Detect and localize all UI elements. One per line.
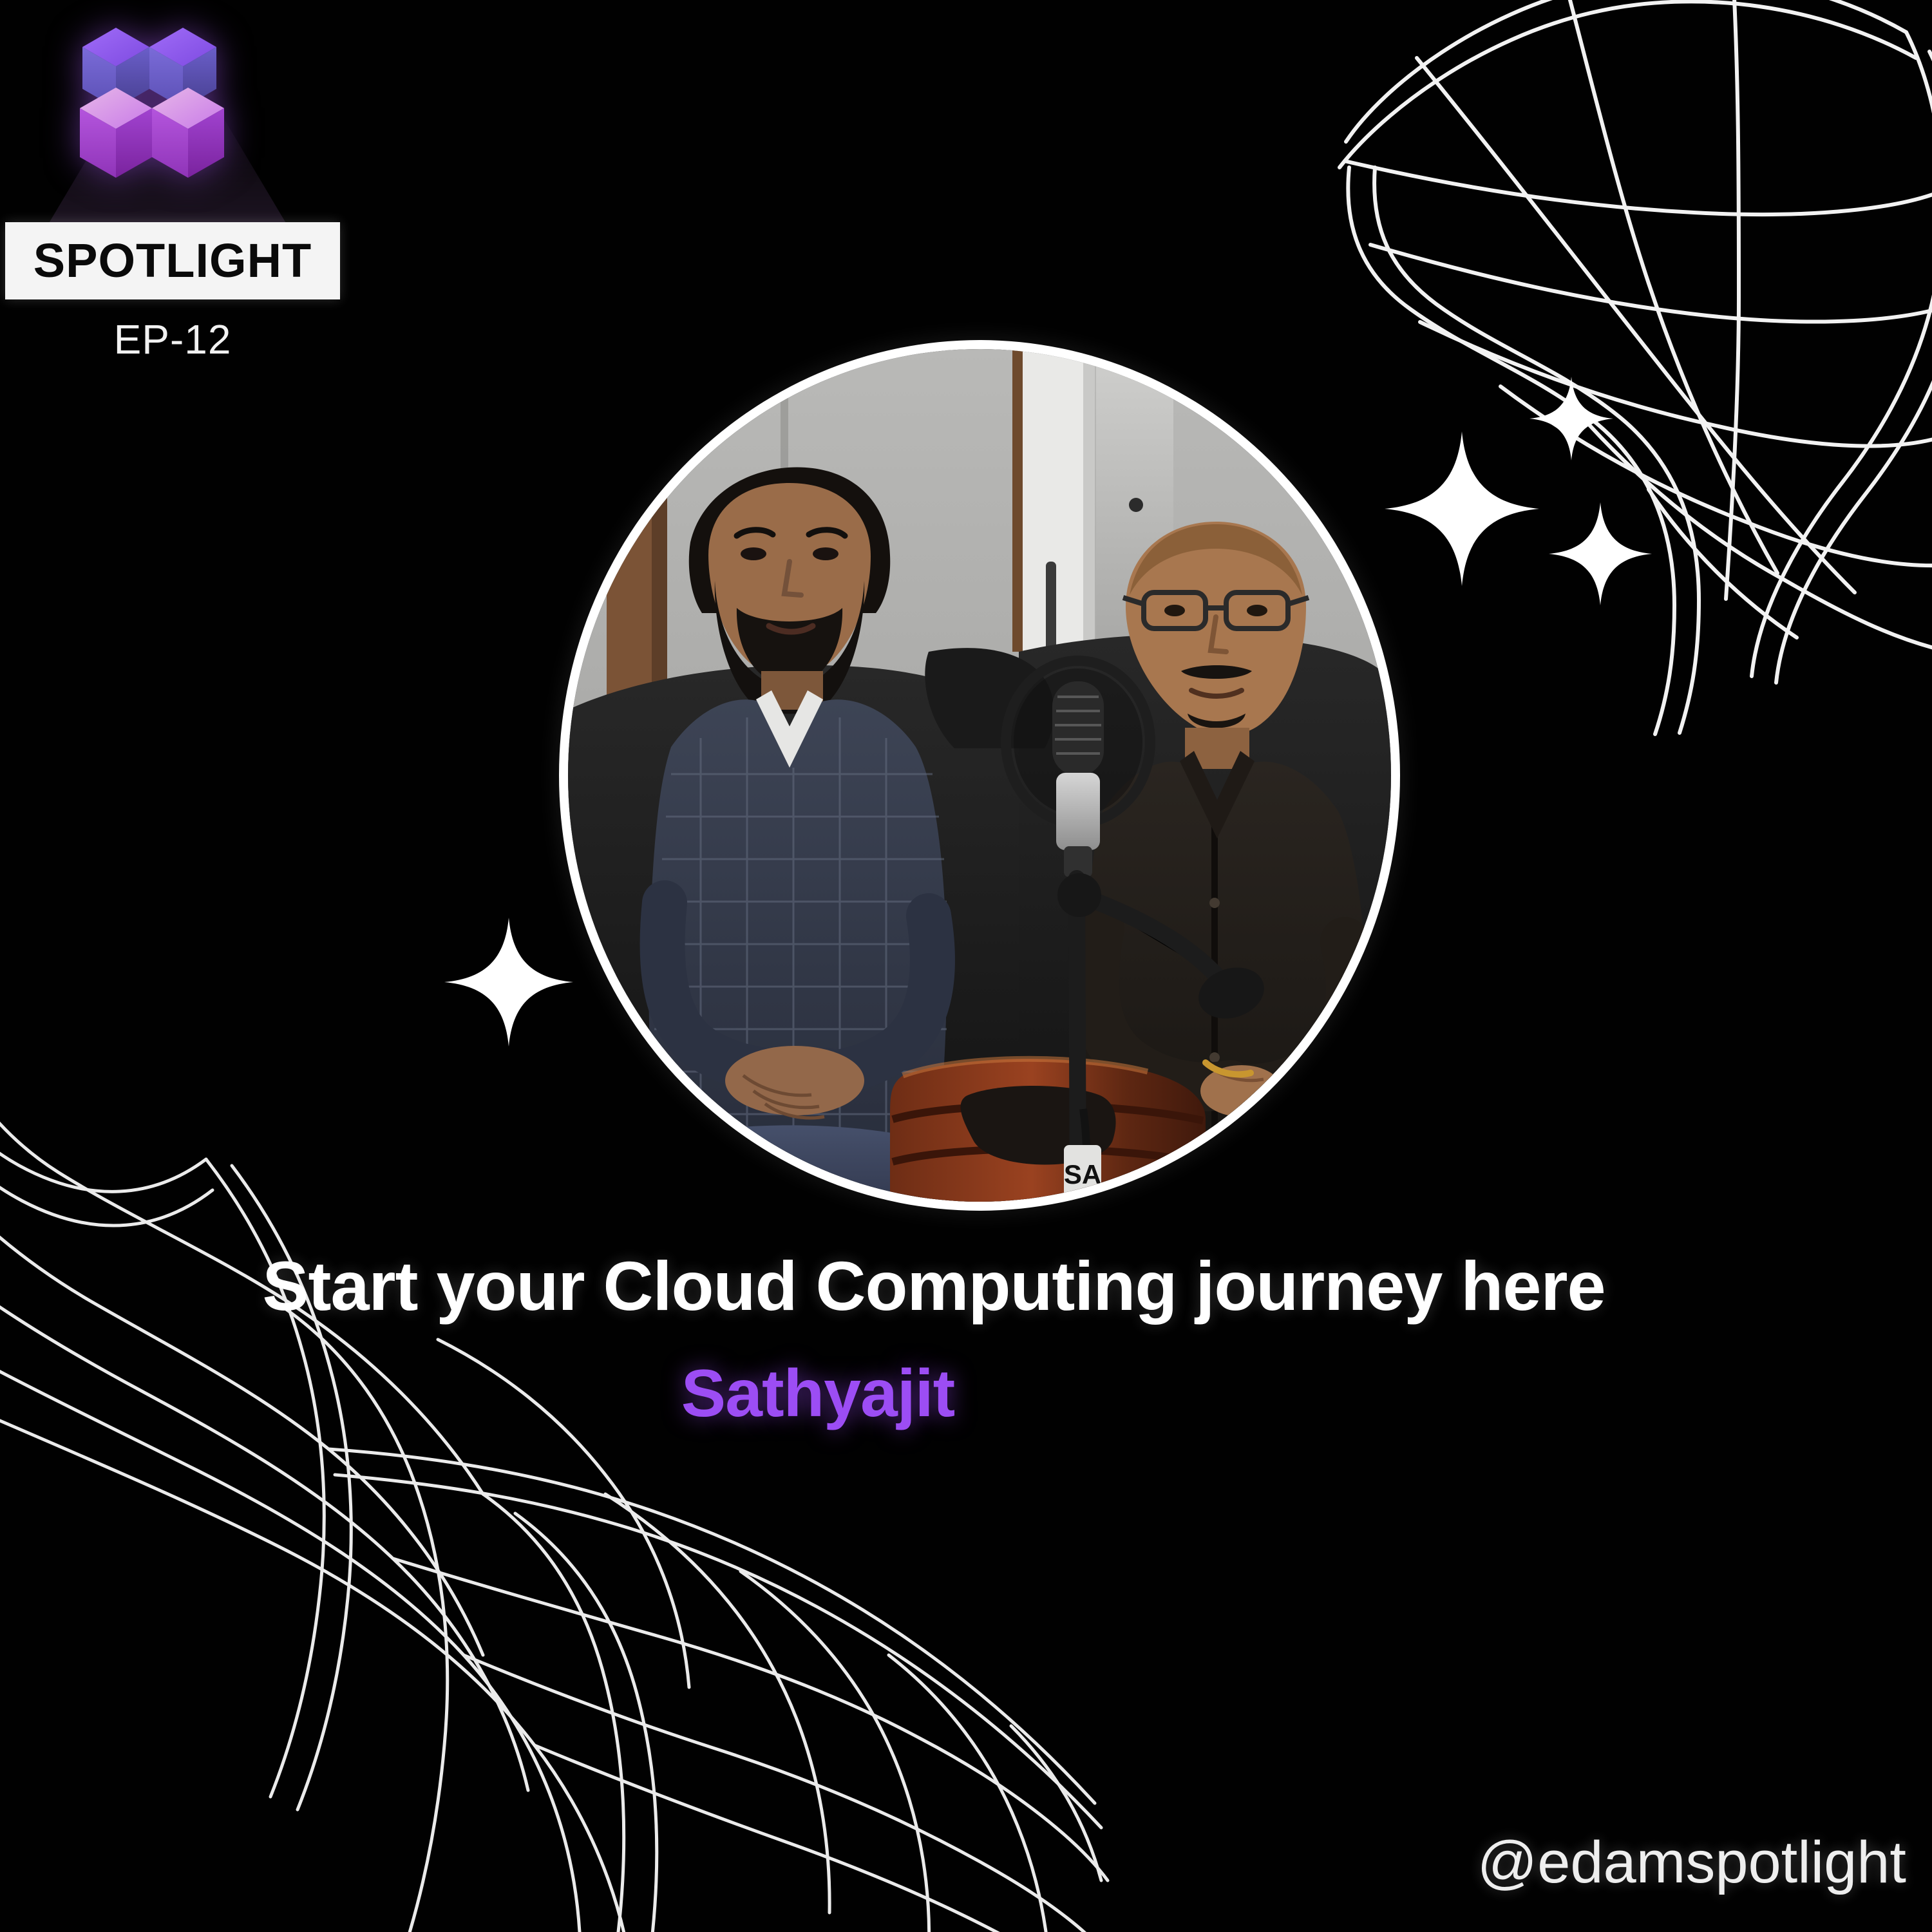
spotlight-badge: SPOTLIGHT <box>5 222 340 299</box>
social-handle: @edamspotlight <box>1477 1829 1906 1897</box>
wireframe-mesh-top-right <box>1288 0 1932 657</box>
sparkle-small-lower-icon <box>1549 502 1652 605</box>
page-title: Start your Cloud Computing journey here <box>0 1249 1868 1322</box>
poster-canvas: SPOTLIGHT EP-12 <box>0 0 1932 1932</box>
sparkle-large-right-icon <box>1385 431 1539 586</box>
sparkle-small-top-icon <box>1529 377 1613 460</box>
svg-text:SA: SA <box>1064 1159 1101 1189</box>
guest-photo: SA <box>568 349 1391 1202</box>
brand-logo-block: SPOTLIGHT EP-12 <box>0 0 361 386</box>
guest-name: Sathyajit <box>0 1359 1636 1429</box>
sparkle-left-photo-icon <box>444 918 573 1046</box>
guest-photo-ring: SA <box>559 340 1400 1211</box>
spotlight-badge-label: SPOTLIGHT <box>33 237 312 285</box>
isometric-cubes-logo-icon <box>76 12 231 211</box>
episode-label: EP-12 <box>5 316 340 363</box>
